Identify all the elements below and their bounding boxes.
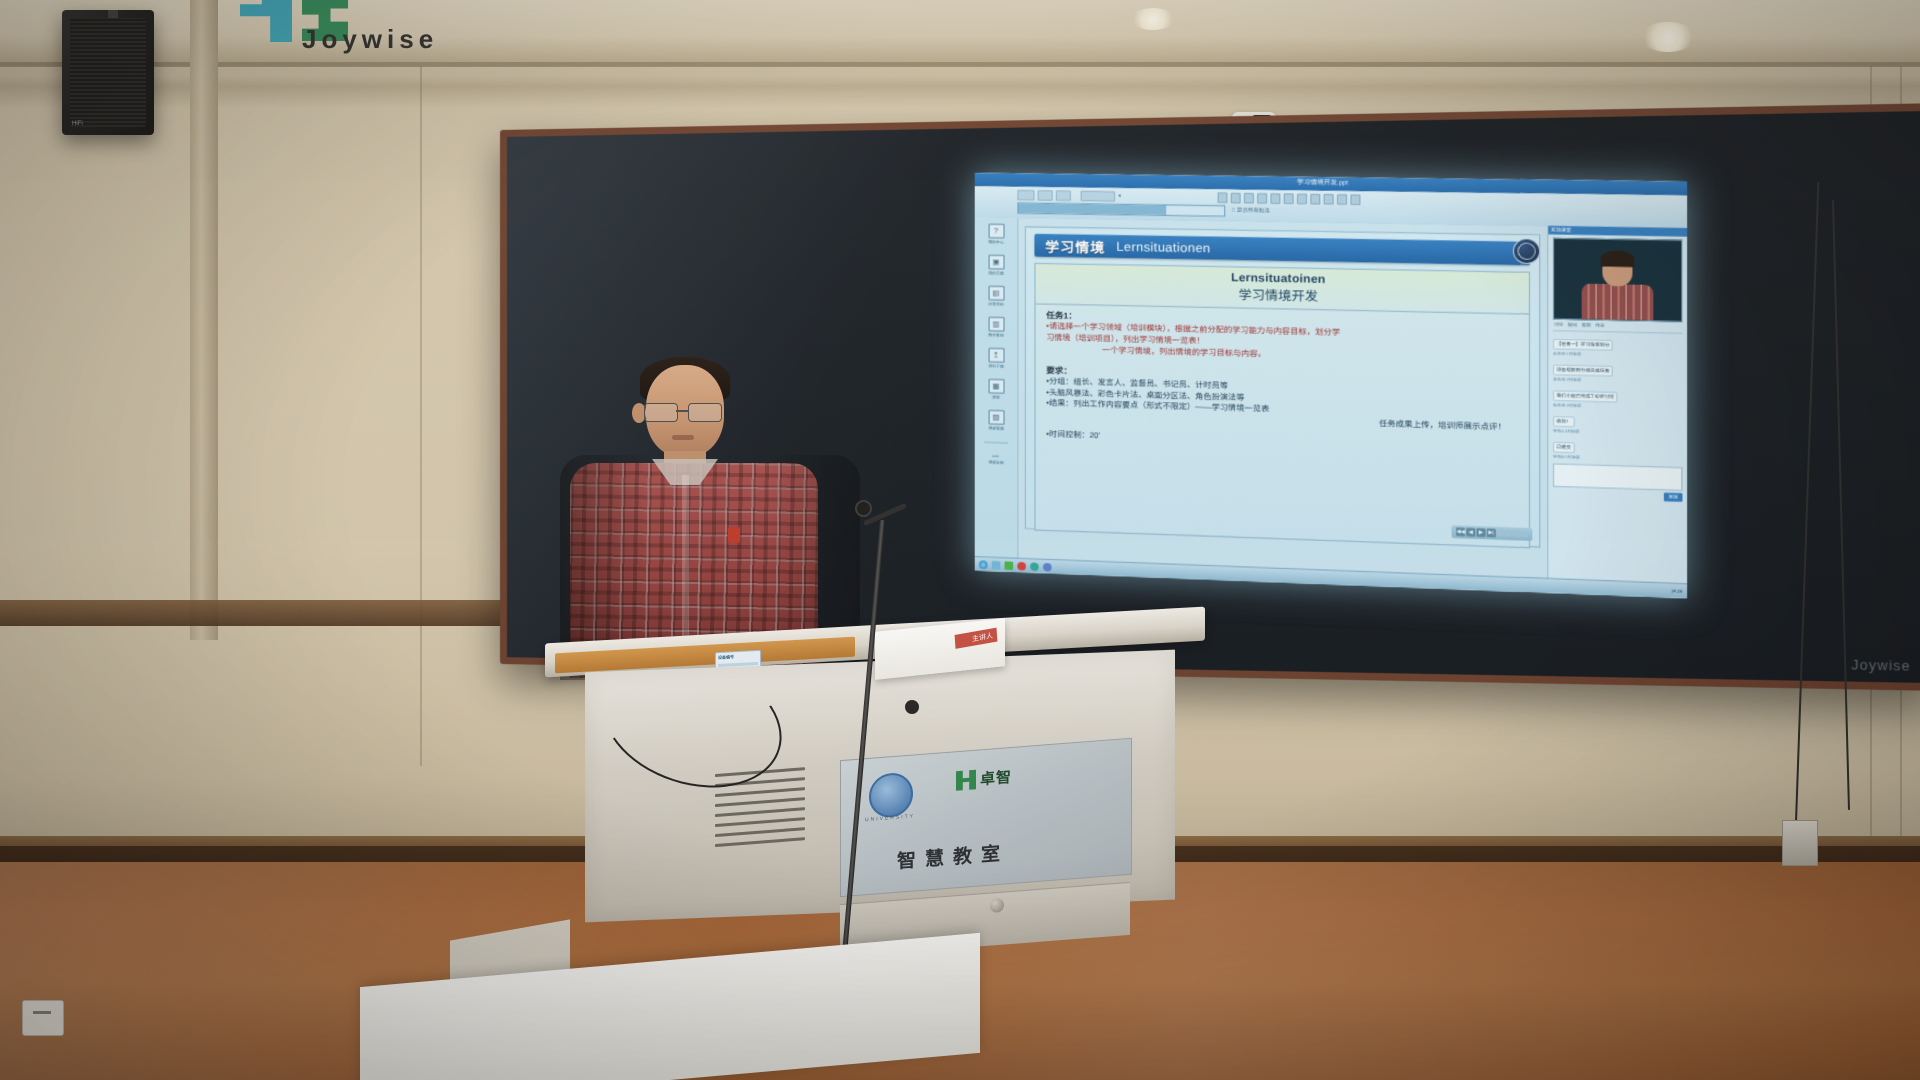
rail-item-class-manage[interactable]: ▧ 课堂管理 [988,410,1005,432]
bold-icon[interactable] [1244,193,1254,204]
class-manage-icon: ▧ [988,410,1004,425]
slide-title-de: Lernsituationen [1116,239,1210,255]
speaker-badge: HiFi [72,121,83,127]
rail-label: 共享资料 [988,301,1004,307]
wall-seam [420,66,422,766]
rail-label: 教学素材 [988,333,1004,339]
copy-icon[interactable] [1231,193,1241,204]
ribbon-chip-file[interactable] [1017,190,1034,201]
rewind-button[interactable]: ◀◀ [1456,528,1465,537]
school-logo-icon [869,772,913,819]
school-crest-icon [1513,238,1540,264]
rail-label: 资料下载 [988,364,1004,370]
tab-signin[interactable]: 签到 [1582,322,1591,329]
next-button[interactable]: ▶| [1487,529,1496,538]
control-dot[interactable] [1505,530,1512,537]
prev-button[interactable]: ◀ [1466,528,1475,537]
chat-text: 【任务一】学习情境划分 [1553,339,1613,351]
ribbon-checkbox-label[interactable]: □ 显示所有批注 [1232,206,1270,214]
board-brand: Joywise [1851,658,1910,674]
download-icon: ↥ [988,348,1004,363]
rail-item-class[interactable]: ▦ 课堂 [988,379,1004,401]
chat-item: 李老师 2分钟前 我们小组已完成了初步讨论 [1553,377,1683,406]
joywise-brand-cn: 卓智 [980,766,1012,789]
more-icon[interactable] [1350,194,1360,205]
tab-question[interactable]: 提问 [1568,322,1577,329]
chat-input[interactable] [1553,463,1683,491]
start-orb-icon[interactable] [979,560,988,569]
rail-label: 课程安排 [988,460,1004,466]
slide-title-bar: 学习情境 Lernsituationen [1034,234,1530,266]
ribbon-tool-icons[interactable] [1218,193,1361,205]
eyeglasses-icon [644,403,726,420]
podium-label: 智慧教室 [897,838,1009,874]
undo-icon[interactable] [1270,193,1280,204]
ceiling-light [1640,22,1696,52]
slide[interactable]: 学习情境 Lernsituationen Lernsituatoinen 学习情… [1025,226,1541,547]
slide-title-cn: 学习情境 [1045,235,1105,256]
interaction-panel[interactable]: 互动课堂 讨论 提问 签到 [1547,226,1687,599]
control-dot[interactable] [1497,530,1504,537]
rail-label: 课堂 [992,395,1000,401]
help-icon: ? [988,224,1004,239]
explorer-icon[interactable] [992,560,1001,569]
address-bar-fill [1018,203,1166,214]
cut-icon[interactable] [1218,193,1228,204]
live-video-feed[interactable] [1553,238,1683,322]
classroom-photo: Joywise 卓智服务 智慧校园 HiFi Joywise 学习情境开发.pp… [0,0,1920,1080]
chat-text: 我们小组已完成了初步讨论 [1553,390,1618,402]
rail-divider [984,442,1007,444]
panel-title: 互动课堂 [1548,226,1687,237]
rail-label: 帮助中心 [988,239,1004,245]
schedule-icon: ≡≡≡ [993,454,1000,459]
chat-item: 王老师 1分钟前 请各组按照分组完成任务 [1553,352,1683,381]
wall-brand-text: Joywise [302,24,438,55]
slide-content: Lernsituatoinen 学习情境开发 任务1： •请选择一个学习领域（培… [1034,263,1530,549]
chat-text: 请各组按照分组完成任务 [1553,364,1613,376]
rail-label: 我的云盘 [988,270,1004,276]
power-socket [22,1000,64,1036]
ppt-window-title: 学习情境开发.ppt [1297,180,1348,187]
pen-icon[interactable] [1310,194,1320,205]
control-dot[interactable] [1521,531,1528,538]
rail-item-cloud[interactable]: ▣ 我的云盘 [988,255,1005,277]
requirements-block: 要求： •分组：组长、发言人、监督员、书记员、计时员等 •头脑风暴法、彩色卡片法… [1046,364,1517,434]
video-hair [1601,251,1635,268]
wall-utility-box [1782,820,1818,866]
rail-item-materials[interactable]: ▥ 教学素材 [988,317,1005,339]
time-control-line: •时间控制：20' [1046,429,1517,454]
fill-icon[interactable] [1324,194,1334,205]
redo-icon[interactable] [1284,193,1294,204]
rail-item-help[interactable]: ? 帮助中心 [988,224,1005,246]
shared-files-icon: ▤ [988,286,1004,301]
joywise-mark [240,0,292,42]
wall-column [190,0,218,640]
ceiling-light [1130,8,1176,30]
microphone-head [855,500,872,517]
ppt-body: ? 帮助中心 ▣ 我的云盘 ▤ 共享资料 ▥ 教学素材 [975,217,1687,598]
chat-item: 张老师 3分钟前 收到！ [1553,403,1683,432]
cloud-disk-icon: ▣ [988,255,1004,270]
chevron-down-icon[interactable]: ▾ [1118,193,1121,199]
tab-discussion[interactable]: 讨论 [1554,322,1563,329]
play-button[interactable]: ▶ [1477,528,1486,537]
ppt-address-bar[interactable] [1017,202,1225,216]
ppt-left-rail[interactable]: ? 帮助中心 ▣ 我的云盘 ▤ 共享资料 ▥ 教学素材 [975,217,1019,572]
ppt-slide-stage[interactable]: 学习情境 Lernsituationen Lernsituatoinen 学习情… [1018,218,1547,593]
rail-item-download[interactable]: ↥ 资料下载 [988,348,1005,370]
rail-label: 课堂管理 [988,426,1004,432]
ribbon-chip-insert[interactable] [1056,190,1071,201]
wall-logo-joywise: Joywise [240,0,348,42]
shape-icon[interactable] [1297,194,1307,205]
presentation-screen[interactable]: 学习情境开发.ppt ▾ [975,173,1687,599]
video-presenter [1582,254,1654,322]
wall-speaker: HiFi [62,10,154,135]
chat-icon[interactable] [1043,562,1052,571]
materials-icon: ▥ [988,317,1004,332]
school-logo-subtext: UNIVERSITY [865,813,915,823]
chat-text: 已提交 [1553,442,1574,453]
taskbar-clock: 14:26 [1671,588,1683,594]
control-dot[interactable] [1513,531,1520,538]
speaker-grill [70,18,146,127]
presenter-mouth [672,435,694,440]
podium-brand-panel: UNIVERSITY 卓智 智慧教室 [840,738,1132,897]
chat-text: 收到！ [1553,416,1574,427]
table-icon[interactable] [1337,194,1347,205]
classroom-icon: ▦ [988,379,1004,394]
browser-icon[interactable] [1030,562,1039,571]
microphone-joint [905,700,919,714]
ribbon-dropdown[interactable] [1081,191,1116,202]
tab-homework[interactable]: 作业 [1595,322,1604,329]
ceiling-trim [0,62,1920,67]
joywise-mark-icon [956,769,976,791]
chat-item: 学员A 4分钟前 已提交 [1553,429,1683,459]
italic-icon[interactable] [1257,193,1267,204]
ribbon-chip-home[interactable] [1038,190,1053,201]
send-button[interactable]: 发送 [1664,493,1683,502]
chat-list[interactable]: 【任务一】学习情境划分 王老师 1分钟前 请各组按照分组完成任务 李老师 2分钟… [1553,331,1683,464]
rail-item-schedule[interactable]: ≡≡≡ 课程安排 [988,453,1005,466]
rail-item-shared[interactable]: ▤ 共享资料 [988,286,1005,308]
ribbon-chip-row[interactable]: ▾ [1017,190,1121,202]
record-icon[interactable] [1017,561,1026,570]
joywise-logo: 卓智 [956,766,1012,791]
media-icon[interactable] [1005,561,1014,570]
video-body [1582,284,1654,322]
